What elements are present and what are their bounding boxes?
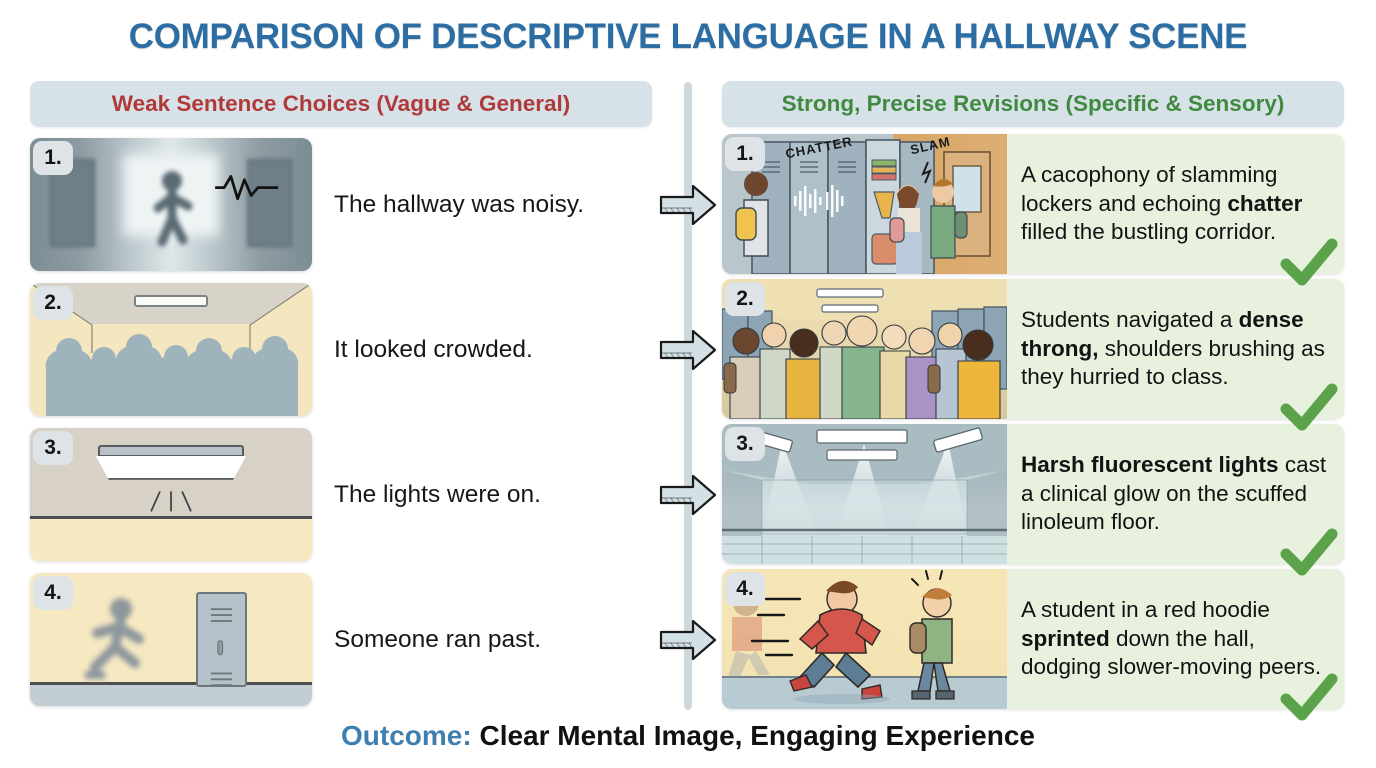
sentence-part: A student in a red hoodie bbox=[1021, 597, 1270, 622]
row-number-badge: 2. bbox=[725, 282, 765, 316]
strong-card-4: 4. A student in a red hoodie sprinted do… bbox=[722, 569, 1344, 709]
weak-sentence-2: It looked crowded. bbox=[334, 283, 654, 416]
outcome-line: Outcome: Clear Mental Image, Engaging Ex… bbox=[0, 720, 1376, 752]
row-number-badge: 3. bbox=[725, 427, 765, 461]
weak-sentence-4: Someone ran past. bbox=[334, 573, 654, 706]
row-number-badge: 2. bbox=[33, 286, 73, 320]
column-header-strong: Strong, Precise Revisions (Specific & Se… bbox=[722, 81, 1344, 127]
strong-card-1: CHATTER SLAM 1. A cacophony of slamming … bbox=[722, 134, 1344, 274]
comparison-row: 1. The hallway was noisy. bbox=[0, 138, 1376, 283]
row-number-badge: 1. bbox=[725, 137, 765, 171]
sentence-part-bold: Harsh fluorescent lights bbox=[1021, 452, 1279, 477]
comparison-row: 4. Someone ran past. bbox=[0, 573, 1376, 718]
walking-figure-icon bbox=[154, 170, 194, 248]
comparison-row: 2. It looked crowded. bbox=[0, 283, 1376, 428]
strong-illustration-1: CHATTER SLAM 1. bbox=[722, 134, 1007, 274]
weak-sentence-3: The lights were on. bbox=[334, 428, 654, 561]
locker-icon bbox=[198, 594, 245, 699]
comparison-rows: 1. The hallway was noisy. bbox=[0, 138, 1376, 718]
row-number-badge: 1. bbox=[33, 141, 73, 175]
arrow-4 bbox=[650, 573, 726, 706]
sentence-part: Students navigated a bbox=[1021, 307, 1239, 332]
right-arrow-icon bbox=[659, 473, 717, 517]
row-number-badge: 4. bbox=[33, 576, 73, 610]
strong-illustration-2: 2. bbox=[722, 279, 1007, 419]
row-number-badge: 4. bbox=[725, 572, 765, 606]
sentence-part: filled the bustling corridor. bbox=[1021, 219, 1276, 244]
weak-illustration-1: 1. bbox=[30, 138, 312, 271]
outcome-label: Outcome: bbox=[341, 720, 472, 751]
light-rays-icon bbox=[109, 487, 233, 514]
running-figure-icon bbox=[81, 597, 161, 683]
right-arrow-icon bbox=[659, 618, 717, 662]
green-check-icon bbox=[1280, 673, 1338, 723]
green-check-icon bbox=[1280, 528, 1338, 578]
arrow-1 bbox=[650, 138, 726, 271]
green-check-icon bbox=[1280, 238, 1338, 288]
sentence-part-bold: chatter bbox=[1227, 191, 1302, 216]
sound-wave-icon bbox=[210, 173, 283, 202]
strong-illustration-3: 3. bbox=[722, 424, 1007, 564]
row-number-badge: 3. bbox=[33, 431, 73, 465]
strong-illustration-4: 4. bbox=[722, 569, 1007, 709]
weak-illustration-3: 3. bbox=[30, 428, 312, 561]
arrow-2 bbox=[650, 283, 726, 416]
right-arrow-icon bbox=[659, 328, 717, 372]
strong-card-2: 2. Students navigated a dense throng, sh… bbox=[722, 279, 1344, 419]
comparison-row: 3. The lights were on. bbox=[0, 428, 1376, 573]
column-header-weak: Weak Sentence Choices (Vague & General) bbox=[30, 81, 652, 127]
arrow-3 bbox=[650, 428, 726, 561]
weak-sentence-1: The hallway was noisy. bbox=[334, 138, 654, 271]
weak-illustration-4: 4. bbox=[30, 573, 312, 706]
weak-illustration-2: 2. bbox=[30, 283, 312, 416]
strong-card-3: 3. Harsh fluorescent lights cast a clini… bbox=[722, 424, 1344, 564]
green-check-icon bbox=[1280, 383, 1338, 433]
outcome-value: Clear Mental Image, Engaging Experience bbox=[479, 720, 1035, 751]
right-arrow-icon bbox=[659, 183, 717, 227]
sentence-part-bold: sprinted bbox=[1021, 626, 1110, 651]
page-title: COMPARISON OF DESCRIPTIVE LANGUAGE IN A … bbox=[0, 0, 1376, 54]
